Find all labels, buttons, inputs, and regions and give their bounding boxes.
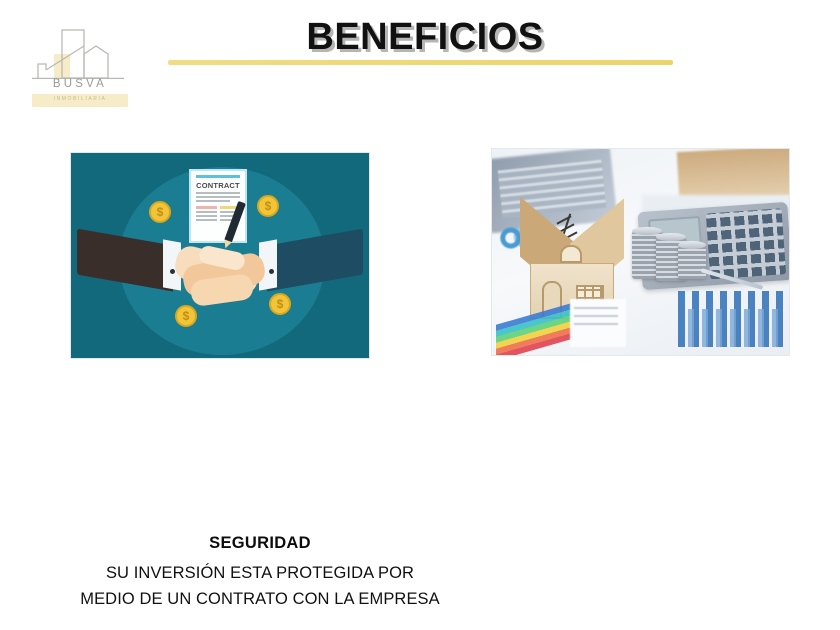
- document-text-line: [196, 196, 240, 198]
- handshake-contract-illustration: $ $ $ $ CONTRACT: [70, 152, 370, 359]
- coin-icon: $: [269, 293, 291, 315]
- cuff-button: [170, 269, 175, 274]
- document-check-box: [196, 206, 217, 209]
- calculator-keypad: [705, 208, 785, 279]
- house-attic-window: [560, 245, 582, 263]
- document-text-line: [196, 215, 217, 217]
- document-title: CONTRACT: [194, 181, 242, 190]
- page-title: BENEFICIOS: [190, 16, 660, 59]
- benefit-description: SU INVERSIÓN ESTA PROTEGIDA POR MEDIO DE…: [80, 560, 440, 612]
- coin-stack-top: [678, 241, 706, 249]
- cuff-button: [269, 269, 274, 274]
- document-column: [196, 206, 217, 223]
- benefit-card-ahorro: AHORRO PRECIOS MUY POR DE BAJO DEL VALOR…: [460, 148, 820, 356]
- logo-tagline-band: INMOBILIARIA: [32, 94, 128, 107]
- benefit-caption-seguridad: SEGURIDAD SU INVERSIÓN ESTA PROTEGIDA PO…: [80, 534, 440, 612]
- paper-document: [570, 299, 626, 347]
- building-outline-icon: [28, 24, 132, 80]
- slide-header: BUSVA INMOBILIARIA BENEFICIOS: [0, 0, 840, 120]
- title-underline-rule: [168, 60, 673, 65]
- busva-logo: BUSVA INMOBILIARIA: [22, 24, 138, 106]
- coin-stack-top: [656, 233, 686, 241]
- document-text-line: [196, 219, 217, 221]
- coin-icon: $: [175, 305, 197, 327]
- document-header-bar: [196, 175, 240, 178]
- document-text-line: [196, 211, 217, 213]
- coin-stack-top: [632, 227, 662, 235]
- document-text-line: [196, 192, 240, 194]
- benefit-card-seguridad: $ $ $ $ CONTRACT: [40, 148, 400, 359]
- logo-tagline: INMOBILIARIA: [32, 96, 128, 102]
- document-text-line: [196, 200, 230, 202]
- coin-icon: $: [149, 201, 171, 223]
- house-savings-photo: [491, 148, 790, 356]
- logo-wordmark: BUSVA: [22, 78, 138, 90]
- coin-icon: $: [257, 195, 279, 217]
- benefit-title: SEGURIDAD: [80, 534, 440, 553]
- paper-text-line: [574, 307, 618, 309]
- wooden-desk-edge: [676, 148, 789, 202]
- paper-text-line: [574, 315, 618, 317]
- coin-stack: [678, 245, 706, 279]
- paper-text-line: [574, 323, 618, 325]
- bar-chart-graphic: [688, 309, 780, 347]
